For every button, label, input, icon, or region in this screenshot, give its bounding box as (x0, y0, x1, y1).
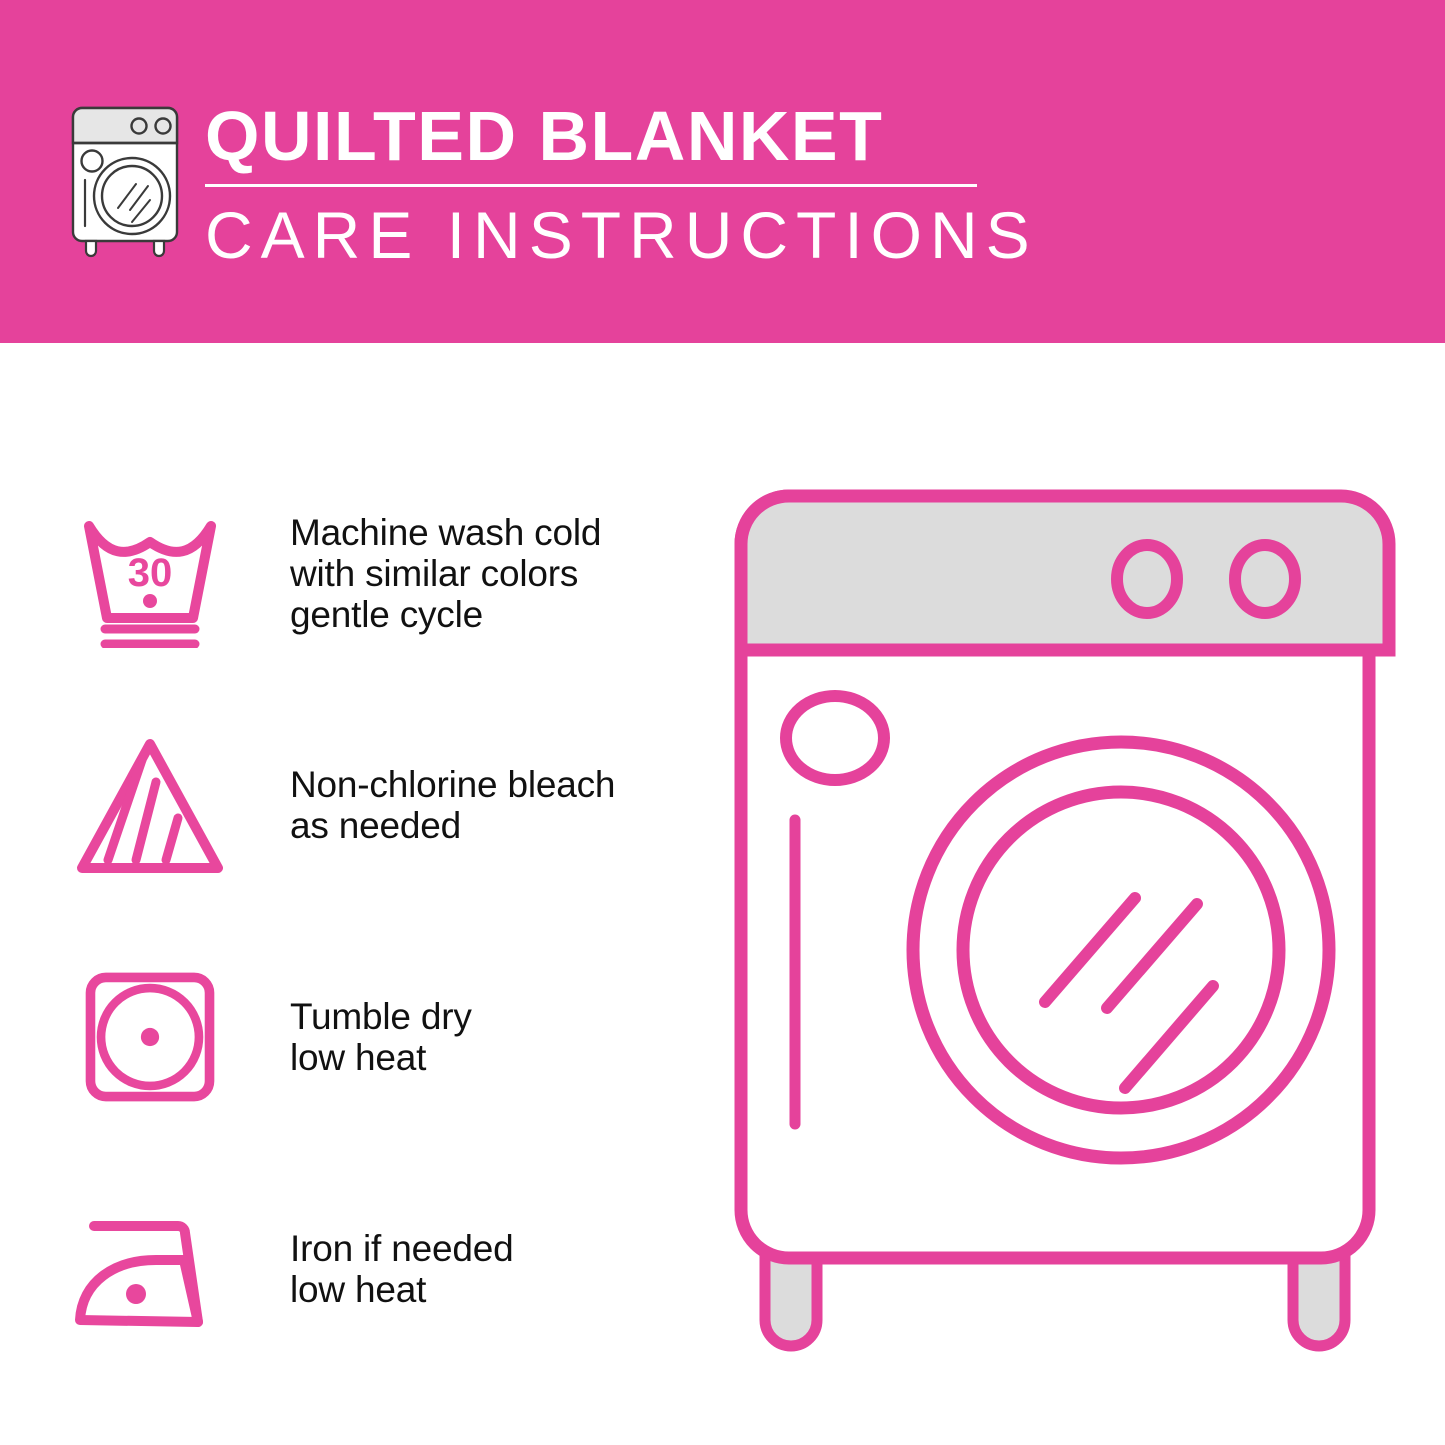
care-row-tumble-dry: Tumble dry low heat (60, 952, 700, 1122)
care-line: Non-chlorine bleach (290, 764, 700, 805)
care-row-wash: 30 Machine wash cold with similar colors… (60, 488, 700, 658)
bleach-triangle-icon (60, 725, 240, 885)
care-row-bleach: Non-chlorine bleach as needed (60, 720, 700, 890)
care-line: low heat (290, 1037, 700, 1078)
wash-temp-label: 30 (128, 551, 173, 595)
care-line: Tumble dry (290, 996, 700, 1037)
care-text-tumble-dry: Tumble dry low heat (240, 996, 700, 1078)
title-divider (205, 184, 977, 187)
page-subtitle: CARE INSTRUCTIONS (205, 199, 995, 271)
iron-icon (60, 1189, 240, 1349)
care-instructions-infographic: QUILTED BLANKET CARE INSTRUCTIONS 30 (0, 0, 1445, 1445)
care-instruction-list: 30 Machine wash cold with similar colors… (60, 488, 700, 1416)
care-line: Iron if needed (290, 1228, 700, 1269)
detergent-dispenser (786, 696, 884, 780)
header-banner: QUILTED BLANKET CARE INSTRUCTIONS (0, 0, 1445, 343)
care-line: gentle cycle (290, 594, 700, 635)
washing-machine-illustration (725, 480, 1405, 1360)
care-row-iron: Iron if needed low heat (60, 1184, 700, 1354)
care-line: low heat (290, 1269, 700, 1310)
care-line: Machine wash cold (290, 512, 700, 553)
tumble-dry-icon (60, 957, 240, 1117)
washing-machine-icon (60, 100, 190, 260)
knob-left (1117, 545, 1177, 613)
care-line: as needed (290, 805, 700, 846)
care-line: with similar colors (290, 553, 700, 594)
wash-tub-30-icon: 30 (60, 493, 240, 653)
care-text-bleach: Non-chlorine bleach as needed (240, 764, 700, 846)
page-title: QUILTED BLANKET (205, 98, 995, 174)
header-text-block: QUILTED BLANKET CARE INSTRUCTIONS (205, 98, 995, 271)
care-text-iron: Iron if needed low heat (240, 1228, 700, 1310)
door-inner-ring (963, 792, 1279, 1108)
knob-right (1235, 545, 1295, 613)
care-text-wash: Machine wash cold with similar colors ge… (240, 512, 700, 635)
